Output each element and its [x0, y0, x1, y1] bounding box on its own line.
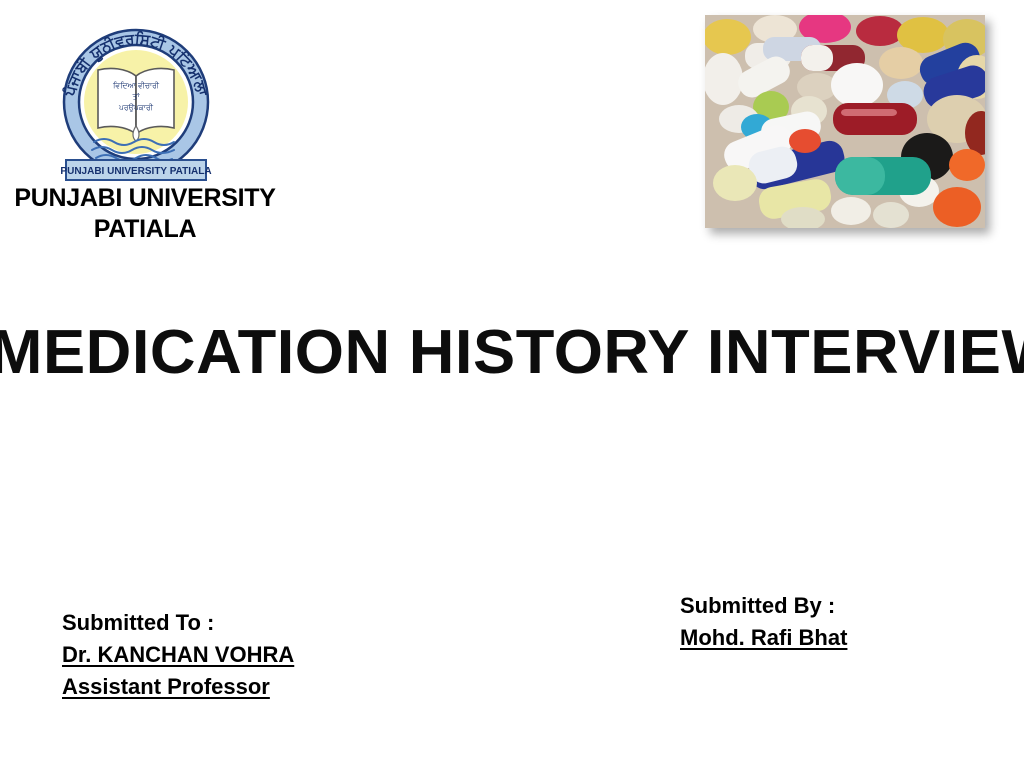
- university-name-line-2: PATIALA: [10, 215, 280, 244]
- submitted-by-heading: Submitted By :: [680, 590, 847, 622]
- university-emblem-icon: ਪੰਜਾਬੀ ਯੂਨੀਵਰਸਿਟੀ ਪਟਿਆਲਾ ਵਿਦਿਆ ਵੀਚਾਰੀ ਤਾ…: [52, 18, 220, 186]
- university-name-line-1: PUNJABI UNIVERSITY: [10, 184, 280, 213]
- svg-text:ਵਿਦਿਆ ਵੀਚਾਰੀ: ਵਿਦਿਆ ਵੀਚਾਰੀ: [112, 81, 160, 90]
- submitted-to-designation: Assistant Professor: [62, 671, 294, 703]
- submitted-to-block: Submitted To : Dr. KANCHAN VOHRA Assista…: [62, 607, 294, 703]
- svg-text:ਪਰਉਪਕਾਰੀ: ਪਰਉਪਕਾਰੀ: [118, 103, 154, 112]
- university-logo-block: ਪੰਜਾਬੀ ਯੂਨੀਵਰਸਿਟੀ ਪਟਿਆਲਾ ਵਿਦਿਆ ਵੀਚਾਰੀ ਤਾ…: [10, 12, 280, 242]
- submitted-by-block: Submitted By : Mohd. Rafi Bhat: [680, 590, 847, 654]
- submitted-to-name: Dr. KANCHAN VOHRA: [62, 639, 294, 671]
- slide-title: MEDICATION HISTORY INTERVIEW: [0, 318, 1024, 388]
- assorted-pills-photo: [705, 15, 985, 228]
- svg-text:ਤਾਂ: ਤਾਂ: [132, 92, 141, 101]
- submitted-by-name: Mohd. Rafi Bhat: [680, 622, 847, 654]
- emblem-banner-text: PUNJABI UNIVERSITY PATIALA: [60, 166, 211, 177]
- presentation-slide: ਪੰਜਾਬੀ ਯੂਨੀਵਰਸਿਟੀ ਪਟਿਆਲਾ ਵਿਦਿਆ ਵੀਚਾਰੀ ਤਾ…: [0, 0, 1024, 768]
- submitted-to-heading: Submitted To :: [62, 607, 294, 639]
